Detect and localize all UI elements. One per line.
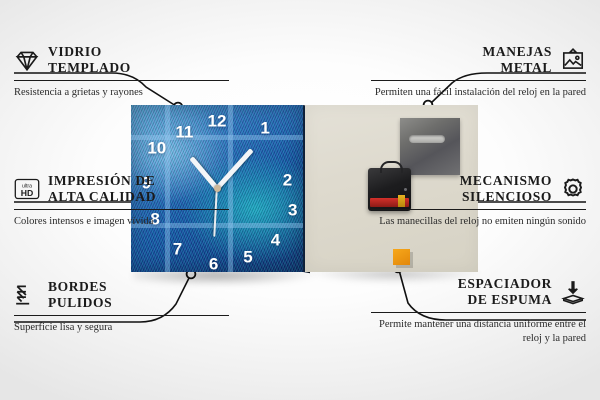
clock-numeral: 2 xyxy=(283,172,292,189)
clock-numeral: 5 xyxy=(243,248,252,265)
clock-numeral: 10 xyxy=(147,140,166,157)
clock-numeral: 12 xyxy=(208,113,227,130)
feature-title-line: BORDES xyxy=(48,279,112,295)
feature-title-line: TEMPLADO xyxy=(48,60,131,76)
feature-title-line: ESPACIADOR xyxy=(458,276,552,292)
infographic-canvas: 12 1 2 3 4 5 6 7 8 9 10 11 xyxy=(0,0,600,400)
feature-divider xyxy=(371,312,586,314)
clock-numeral: 7 xyxy=(173,240,182,257)
feature-divider xyxy=(14,315,229,317)
feature-espaciador-de-espuma: ESPACIADOR DE ESPUMA Permite mantener un… xyxy=(371,276,586,346)
feature-title-line: MECANISMO xyxy=(460,173,552,189)
feature-mecanismo-silencioso: MECANISMO SILENCIOSO Las manecillas del … xyxy=(371,173,586,229)
svg-text:HD: HD xyxy=(21,188,34,198)
feature-title-line: METAL xyxy=(483,60,552,76)
feature-title-line: SILENCIOSO xyxy=(460,189,552,205)
gear-icon xyxy=(560,176,586,202)
feature-divider xyxy=(14,209,229,211)
feature-title-line: IMPRESIÓN DE xyxy=(48,173,156,189)
feature-description: Permiten una fácil instalación del reloj… xyxy=(371,86,586,100)
feature-title-line: ALTA CALIDAD xyxy=(48,189,156,205)
diamond-icon xyxy=(14,47,40,73)
feature-description: Colores intensos e imagen vívida xyxy=(14,215,229,229)
hanger-plate xyxy=(400,118,460,175)
feature-bordes-pulidos: BORDES PULIDOS Superficie lisa y segura xyxy=(14,279,229,335)
clock-numeral: 3 xyxy=(288,202,297,219)
feature-divider xyxy=(371,209,586,211)
hanger-slot xyxy=(409,135,445,143)
feature-impresion-alta-calidad: ultra HD IMPRESIÓN DE ALTA CALIDAD Color… xyxy=(14,173,229,229)
feature-manejas-metal: MANEJAS METAL Permiten una fácil instala… xyxy=(371,44,586,100)
clock-numeral: 6 xyxy=(209,255,218,272)
foam-spacer xyxy=(393,249,410,265)
feature-title-line: MANEJAS xyxy=(483,44,552,60)
foam-spacer-icon xyxy=(560,279,586,305)
feature-title-line: VIDRIO xyxy=(48,44,131,60)
clock-numeral: 1 xyxy=(260,120,269,137)
picture-frame-icon xyxy=(560,47,586,73)
feature-title-line: DE ESPUMA xyxy=(458,292,552,308)
polished-edges-icon xyxy=(14,282,40,308)
clock-numeral: 11 xyxy=(175,123,193,140)
feature-divider xyxy=(14,80,229,82)
feature-description: Permite mantener una distancia uniforme … xyxy=(371,318,586,346)
ultra-hd-icon: ultra HD xyxy=(14,176,40,202)
feature-title-line: PULIDOS xyxy=(48,295,112,311)
feature-divider xyxy=(371,80,586,82)
clock-numeral: 4 xyxy=(271,232,280,249)
feature-vidrio-templado: VIDRIO TEMPLADO Resistencia a grietas y … xyxy=(14,44,229,100)
feature-description: Superficie lisa y segura xyxy=(14,321,229,335)
feature-description: Las manecillas del reloj no emiten ningú… xyxy=(371,215,586,229)
feature-description: Resistencia a grietas y rayones xyxy=(14,86,229,100)
movement-hanger-loop xyxy=(380,161,403,173)
